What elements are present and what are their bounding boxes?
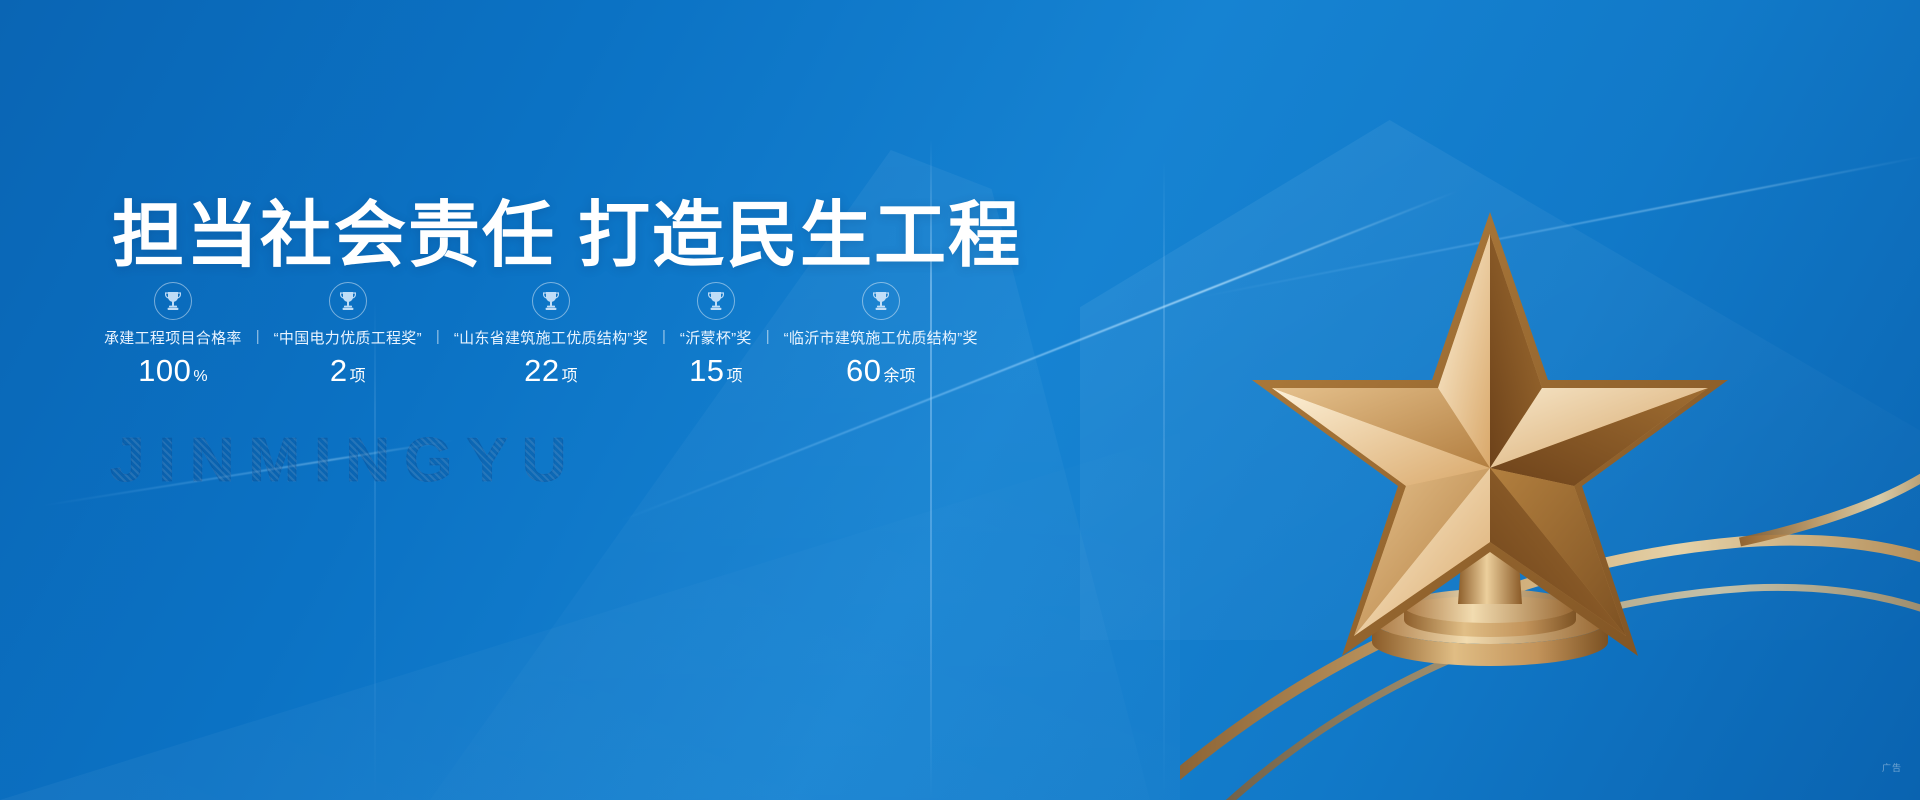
stat-number: 15 <box>689 355 724 386</box>
stat-number: 22 <box>524 355 559 386</box>
stat-value: 2 项 <box>330 355 366 386</box>
stat-number: 2 <box>330 355 348 386</box>
trophy-icon <box>532 282 570 320</box>
stat-number: 100 <box>138 355 191 386</box>
stat-label: “中国电力优质工程奖” <box>274 331 422 346</box>
stat-divider: | <box>752 329 784 344</box>
brand-watermark: JINMINGYU <box>110 425 580 496</box>
stat-item: “临沂市建筑施工优质结构”奖 60 余项 <box>784 282 978 386</box>
promo-banner: JINMINGYU 担当社会责任 打造民生工程 承建工程项目合格率 100 % <box>0 0 1920 800</box>
stat-unit: 余项 <box>883 369 915 385</box>
stat-item: “沂蒙杯”奖 15 项 <box>680 282 752 386</box>
trophy-icon <box>154 282 192 320</box>
vertical-light-line-2 <box>1163 160 1165 800</box>
stat-label: “沂蒙杯”奖 <box>680 331 752 346</box>
stat-item: 承建工程项目合格率 100 % <box>104 282 242 386</box>
stat-number: 60 <box>846 355 881 386</box>
stat-unit: 项 <box>562 369 578 385</box>
stat-unit: % <box>193 369 207 385</box>
trophy-icon <box>697 282 735 320</box>
award-stats-row: 承建工程项目合格率 100 % | “中国电力优质工程奖” 2 <box>104 282 978 386</box>
banner-headline: 担当社会责任 打造民生工程 <box>112 198 1022 276</box>
stat-label: “临沂市建筑施工优质结构”奖 <box>784 331 978 346</box>
stat-unit: 项 <box>727 369 743 385</box>
stat-divider: | <box>242 329 274 344</box>
stat-divider: | <box>648 329 680 344</box>
stat-item: “山东省建筑施工优质结构”奖 22 项 <box>454 282 648 386</box>
stat-divider: | <box>422 329 454 344</box>
stat-value: 22 项 <box>524 355 578 386</box>
trophy-icon <box>862 282 900 320</box>
trophy-icon <box>329 282 367 320</box>
stat-value: 60 余项 <box>846 355 916 386</box>
stat-label: 承建工程项目合格率 <box>104 331 242 346</box>
corner-mark: 广告 <box>1882 761 1902 774</box>
stat-label: “山东省建筑施工优质结构”奖 <box>454 331 648 346</box>
stat-value: 15 项 <box>689 355 743 386</box>
golden-star-trophy-illustration <box>1180 190 1920 800</box>
stat-unit: 项 <box>350 369 366 385</box>
stat-item: “中国电力优质工程奖” 2 项 <box>274 282 422 386</box>
stat-value: 100 % <box>138 355 207 386</box>
light-ray-c <box>0 330 1180 800</box>
